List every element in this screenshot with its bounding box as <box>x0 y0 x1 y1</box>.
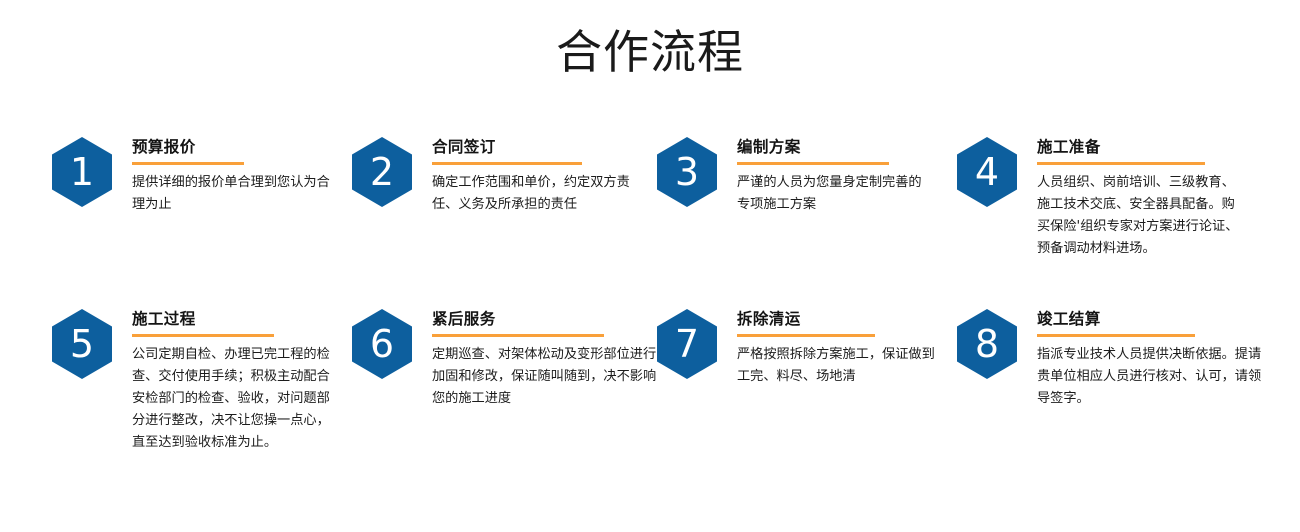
step-body-7: 拆除清运 严格按照拆除方案施工，保证做到工完、料尽、场地清 <box>737 305 942 388</box>
heading-underline-8 <box>1037 334 1195 337</box>
step-number-badge-3: 3 <box>657 137 717 207</box>
step-description-2: 确定工作范围和单价，约定双方责任、义务及所承担的责任 <box>432 172 650 216</box>
step-number-7: 7 <box>657 309 717 379</box>
step-number-6: 6 <box>352 309 412 379</box>
step-heading-5: 施工过程 <box>132 309 332 329</box>
step-item-1: 1 预算报价 提供详细的报价单合理到您认为合理为止 <box>52 133 342 216</box>
heading-underline-6 <box>432 334 604 337</box>
heading-underline-4 <box>1037 162 1205 165</box>
step-number-badge-5: 5 <box>52 309 112 379</box>
step-number-1: 1 <box>52 137 112 207</box>
step-item-3: 3 编制方案 严谨的人员为您量身定制完善的专项施工方案 <box>657 133 932 216</box>
step-heading-8: 竣工结算 <box>1037 309 1267 329</box>
step-heading-7: 拆除清运 <box>737 309 942 329</box>
step-item-2: 2 合同签订 确定工作范围和单价，约定双方责任、义务及所承担的责任 <box>352 133 650 216</box>
step-heading-3: 编制方案 <box>737 137 932 157</box>
step-description-5: 公司定期自检、办理已完工程的检查、交付使用手续；积极主动配合安检部门的检查、验收… <box>132 344 332 454</box>
page-title-wrapper: 合作流程 <box>0 22 1300 82</box>
heading-underline-7 <box>737 334 875 337</box>
step-number-4: 4 <box>957 137 1017 207</box>
step-description-1: 提供详细的报价单合理到您认为合理为止 <box>132 172 342 216</box>
step-body-1: 预算报价 提供详细的报价单合理到您认为合理为止 <box>132 133 342 216</box>
step-number-badge-8: 8 <box>957 309 1017 379</box>
step-number-2: 2 <box>352 137 412 207</box>
step-body-4: 施工准备 人员组织、岗前培训、三级教育、施工技术交底、安全器具配备。购买保险'组… <box>1037 133 1242 260</box>
heading-underline-5 <box>132 334 274 337</box>
step-description-6: 定期巡查、对架体松动及变形部位进行加固和修改，保证随叫随到，决不影响您的施工进度 <box>432 344 657 410</box>
heading-underline-1 <box>132 162 244 165</box>
step-heading-6: 紧后服务 <box>432 309 657 329</box>
step-number-8: 8 <box>957 309 1017 379</box>
step-number-badge-6: 6 <box>352 309 412 379</box>
infographic-page: 合作流程 1 预算报价 提供详细的报价单合理到您认为合理为止 2 <box>0 0 1300 532</box>
step-body-3: 编制方案 严谨的人员为您量身定制完善的专项施工方案 <box>737 133 932 216</box>
heading-underline-2 <box>432 162 582 165</box>
step-body-2: 合同签订 确定工作范围和单价，约定双方责任、义务及所承担的责任 <box>432 133 650 216</box>
step-number-badge-2: 2 <box>352 137 412 207</box>
step-heading-2: 合同签订 <box>432 137 650 157</box>
step-item-4: 4 施工准备 人员组织、岗前培训、三级教育、施工技术交底、安全器具配备。购买保险… <box>957 133 1242 260</box>
step-heading-4: 施工准备 <box>1037 137 1242 157</box>
step-description-3: 严谨的人员为您量身定制完善的专项施工方案 <box>737 172 932 216</box>
step-description-7: 严格按照拆除方案施工，保证做到工完、料尽、场地清 <box>737 344 942 388</box>
step-body-5: 施工过程 公司定期自检、办理已完工程的检查、交付使用手续；积极主动配合安检部门的… <box>132 305 332 454</box>
steps-row-2: 5 施工过程 公司定期自检、办理已完工程的检查、交付使用手续；积极主动配合安检部… <box>0 305 1300 505</box>
step-number-badge-4: 4 <box>957 137 1017 207</box>
step-item-6: 6 紧后服务 定期巡查、对架体松动及变形部位进行加固和修改，保证随叫随到，决不影… <box>352 305 657 410</box>
step-item-5: 5 施工过程 公司定期自检、办理已完工程的检查、交付使用手续；积极主动配合安检部… <box>52 305 332 454</box>
steps-row-1: 1 预算报价 提供详细的报价单合理到您认为合理为止 2 合同签订 确定工作范围和… <box>0 133 1300 305</box>
step-description-8: 指派专业技术人员提供决断依据。提请贵单位相应人员进行核对、认可，请领导签字。 <box>1037 344 1267 410</box>
heading-underline-3 <box>737 162 889 165</box>
page-title: 合作流程 <box>556 22 744 82</box>
step-heading-1: 预算报价 <box>132 137 342 157</box>
step-number-3: 3 <box>657 137 717 207</box>
process-steps-grid: 1 预算报价 提供详细的报价单合理到您认为合理为止 2 合同签订 确定工作范围和… <box>0 133 1300 505</box>
step-number-badge-7: 7 <box>657 309 717 379</box>
step-number-badge-1: 1 <box>52 137 112 207</box>
step-item-8: 8 竣工结算 指派专业技术人员提供决断依据。提请贵单位相应人员进行核对、认可，请… <box>957 305 1267 410</box>
step-description-4: 人员组织、岗前培训、三级教育、施工技术交底、安全器具配备。购买保险'组织专家对方… <box>1037 172 1242 260</box>
step-body-8: 竣工结算 指派专业技术人员提供决断依据。提请贵单位相应人员进行核对、认可，请领导… <box>1037 305 1267 410</box>
step-item-7: 7 拆除清运 严格按照拆除方案施工，保证做到工完、料尽、场地清 <box>657 305 942 388</box>
step-number-5: 5 <box>52 309 112 379</box>
step-body-6: 紧后服务 定期巡查、对架体松动及变形部位进行加固和修改，保证随叫随到，决不影响您… <box>432 305 657 410</box>
